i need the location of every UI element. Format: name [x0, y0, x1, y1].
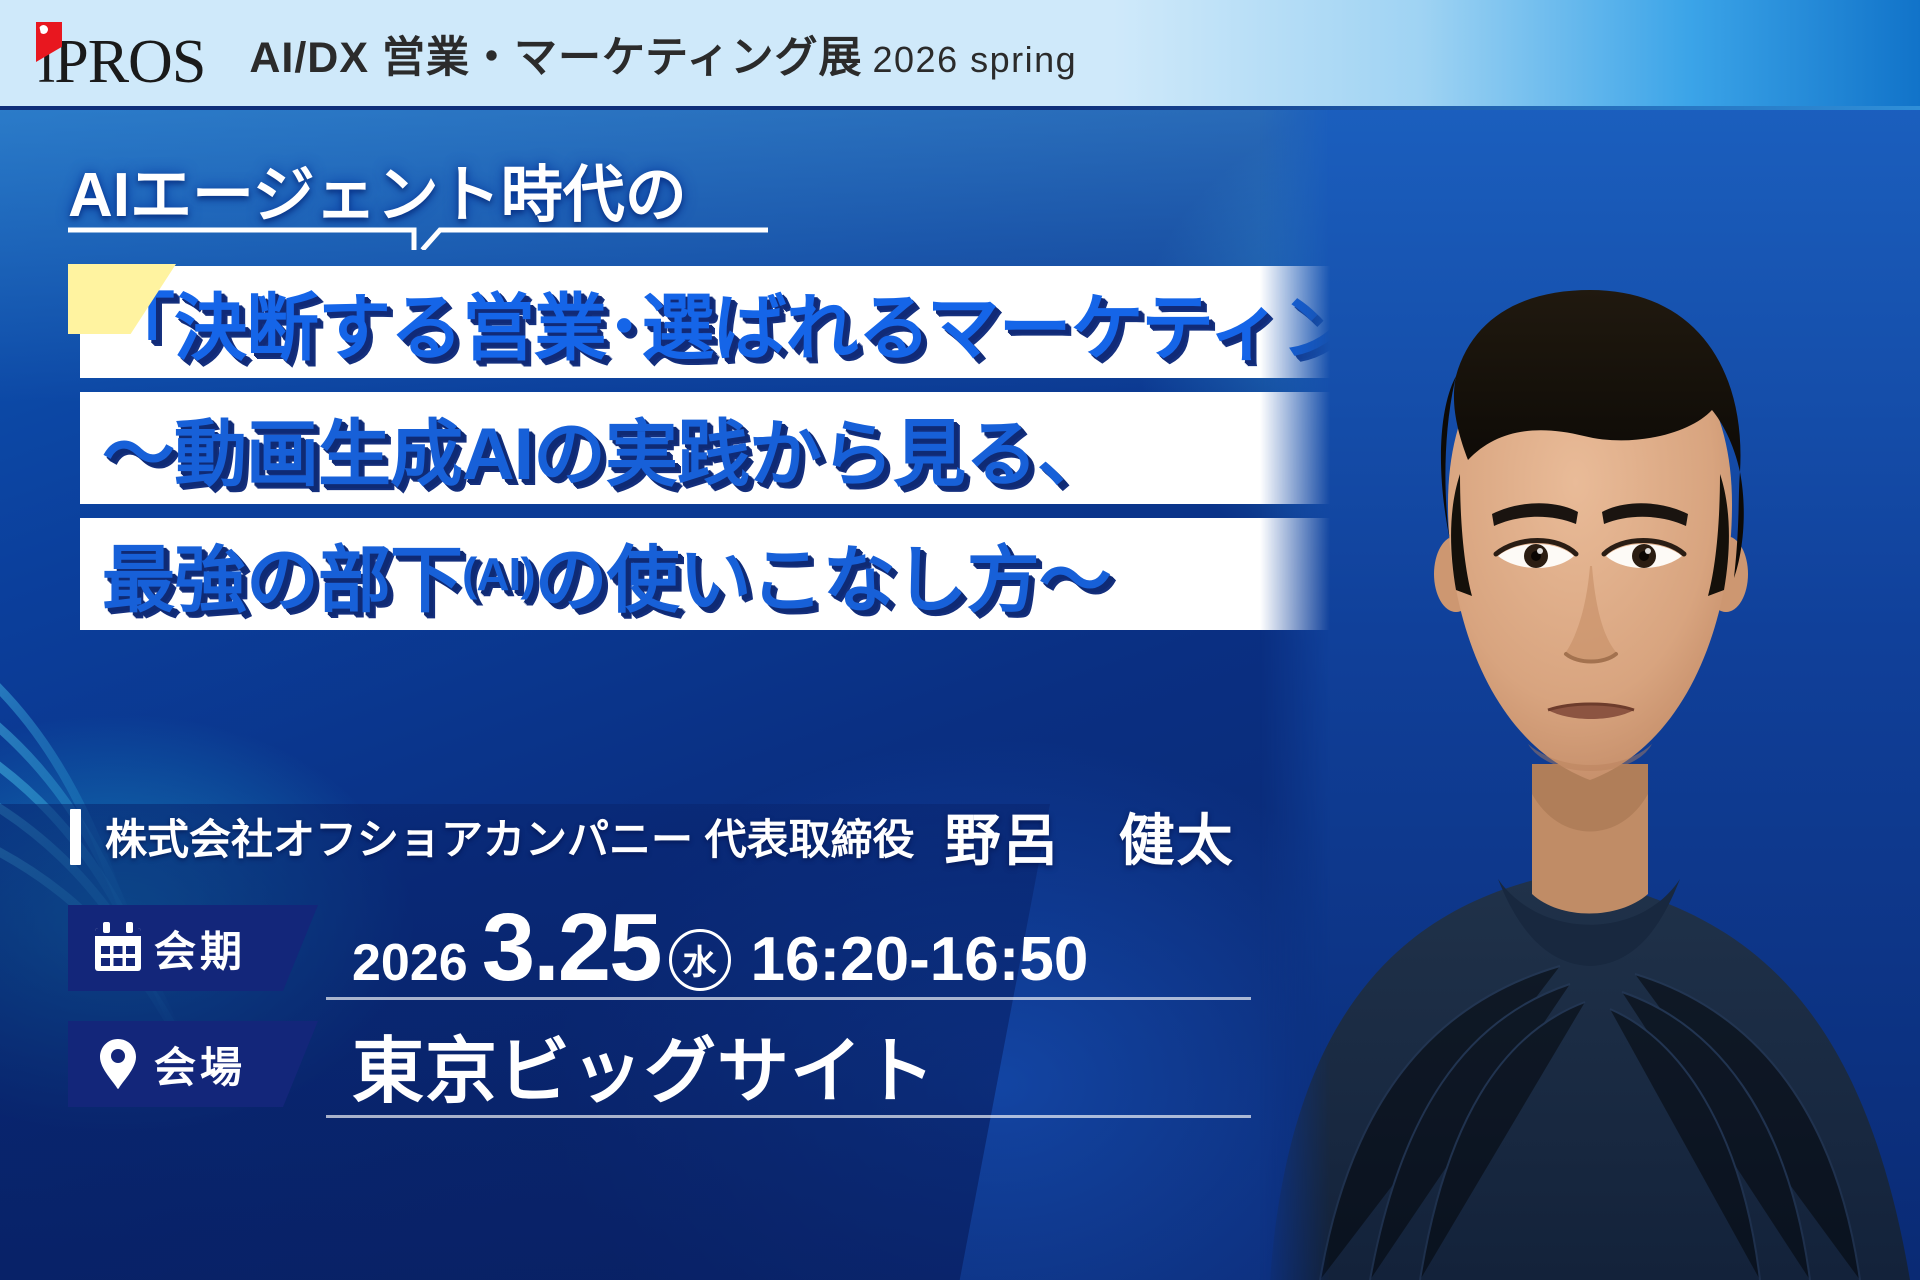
- date-tag-label: 会期: [154, 918, 246, 979]
- portrait-illustration: [1260, 104, 1920, 1280]
- date-value: 2026 3.25 水 16:20-16:50: [352, 893, 1088, 1003]
- speaker-line: 株式会社オフショアカンパニー 代表取締役 野呂 健太: [70, 796, 1235, 877]
- venue-value: 東京ビッグサイト: [352, 1012, 936, 1117]
- title-line-3b: (AI): [462, 547, 535, 601]
- venue-tag: 会場: [68, 1021, 318, 1107]
- map-pin-icon: [90, 1036, 146, 1092]
- event-title-text: AI/DX 営業・マーケティング展: [249, 34, 862, 82]
- title-line-3a: 最強の部下: [102, 521, 462, 627]
- date-tag: 会期: [68, 905, 318, 991]
- event-season-text: 2026 spring: [873, 39, 1078, 80]
- kicker-text: AIエージェント時代の: [68, 144, 687, 234]
- venue-tag-label: 会場: [154, 1034, 246, 1095]
- speaker-organization: 株式会社オフショアカンパニー 代表取締役: [105, 806, 915, 867]
- date-year: 2026: [352, 933, 468, 993]
- title-band-3: 最強の部下 (AI) の使いこなし方〜: [80, 518, 1380, 630]
- speaker-name: 野呂 健太: [945, 796, 1235, 877]
- date-time: 16:20-16:50: [751, 924, 1089, 995]
- header-bar: iPROS AI/DX 営業・マーケティング展2026 spring: [0, 0, 1920, 110]
- venue-row: 会場 東京ビッグサイト: [68, 1016, 936, 1112]
- venue-name: 東京ビッグサイト: [352, 1012, 936, 1117]
- title-line-2: 〜動画生成AIの実践から見る、: [102, 395, 1109, 501]
- event-banner: AIエージェント時代の 「決断する営業･選ばれるマーケティング」 〜動画生成AI…: [0, 0, 1920, 1280]
- kicker-underline-decoration: [68, 224, 768, 250]
- event-title: AI/DX 営業・マーケティング展2026 spring: [249, 23, 1077, 87]
- date-underline: [326, 997, 1251, 1000]
- date-row: 会期 2026 3.25 水 16:20-16:50: [68, 900, 1088, 996]
- speaker-accent-bar: [70, 809, 81, 865]
- title-line-3c: の使いこなし方〜: [535, 521, 1111, 627]
- speaker-portrait: [1260, 104, 1920, 1280]
- ipros-logo[interactable]: iPROS: [34, 18, 205, 92]
- calendar-icon: [90, 920, 146, 976]
- title-band-2: 〜動画生成AIの実践から見る、: [80, 392, 1360, 504]
- venue-underline: [326, 1115, 1251, 1118]
- date-day: 3.25: [482, 893, 661, 1003]
- date-dayofweek: 水: [669, 929, 731, 991]
